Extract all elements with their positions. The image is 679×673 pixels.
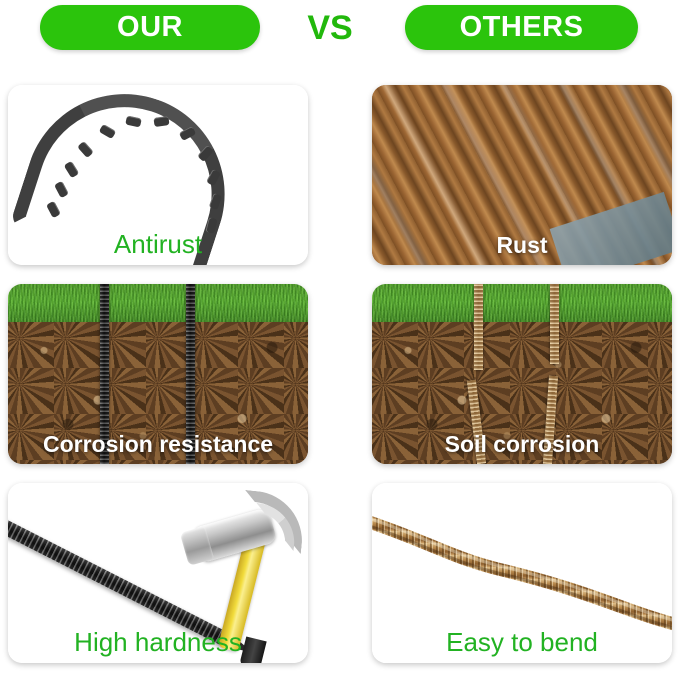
hammer-icon: [168, 489, 308, 659]
our-badge: OUR: [40, 5, 260, 50]
bent-rusty-rebar-icon: [372, 483, 672, 663]
card-our-corrosion-resistance: Corrosion resistance: [8, 284, 308, 464]
vs-label-container: VS: [297, 8, 363, 48]
soil-corrosion-illustration: [372, 284, 672, 464]
grass-layer-icon: [8, 284, 308, 322]
rust-illustration: [372, 85, 672, 265]
card-our-antirust: Antirust: [8, 85, 308, 265]
card-our-high-hardness: High hardness: [8, 483, 308, 663]
grass-layer-icon: [372, 284, 672, 322]
card-others-easy-to-bend: Easy to bend: [372, 483, 672, 663]
ground-cross-section: [372, 284, 672, 464]
soil-layer-icon: [372, 322, 672, 464]
intact-stake-icon: [186, 284, 195, 464]
hammer-grip-icon: [239, 636, 267, 663]
soil-layer-icon: [8, 322, 308, 464]
comparison-header: OUR VS OTHERS: [0, 0, 679, 60]
comparison-infographic: OUR VS OTHERS: [0, 0, 679, 673]
intact-stake-icon: [100, 284, 109, 464]
high-hardness-illustration: [8, 483, 308, 663]
ground-cross-section: [8, 284, 308, 464]
corroded-stake-upper-icon: [550, 284, 559, 364]
antirust-illustration: [8, 85, 308, 265]
card-others-rust: Rust: [372, 85, 672, 265]
card-others-soil-corrosion: Soil corrosion: [372, 284, 672, 464]
comparison-grid: Antirust Rust Corrosion resistance: [0, 68, 679, 673]
vs-label: VS: [307, 11, 352, 45]
corrosion-resistance-illustration: [8, 284, 308, 464]
others-badge: OTHERS: [405, 5, 638, 50]
our-badge-label: OUR: [117, 13, 183, 42]
others-badge-label: OTHERS: [460, 13, 584, 42]
easy-to-bend-illustration: [372, 483, 672, 663]
corroded-stake-upper-icon: [474, 284, 483, 370]
